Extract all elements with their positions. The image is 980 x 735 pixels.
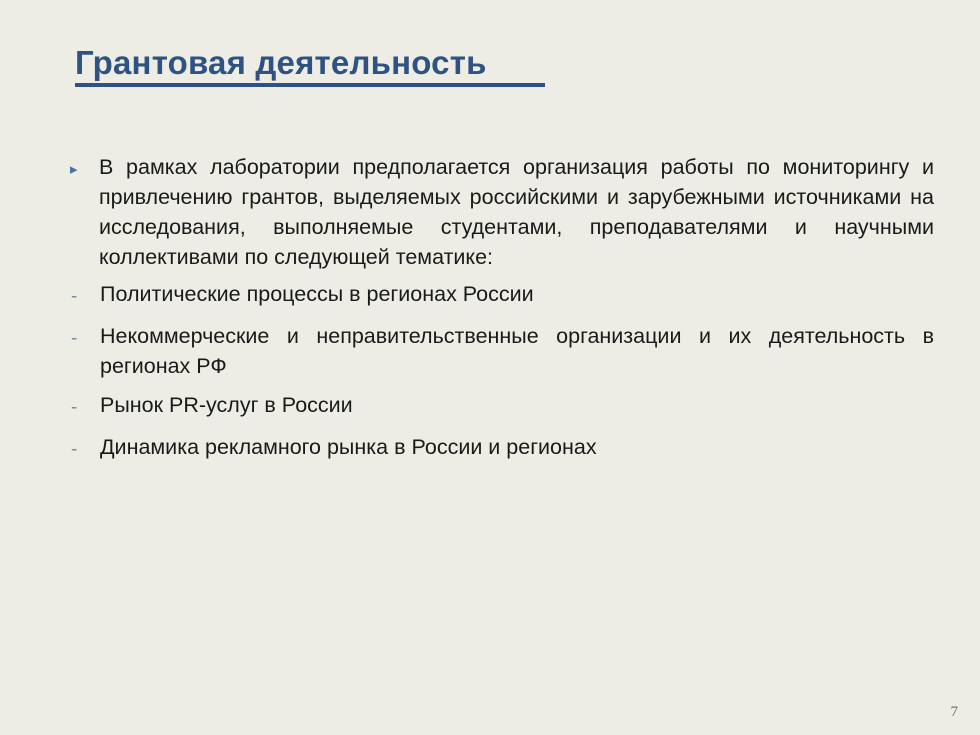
dash-bullet-icon: - — [68, 390, 100, 423]
triangle-bullet-icon: ▸ — [68, 152, 99, 185]
list-item-label: Динамика рекламного рынка в России и рег… — [100, 432, 934, 462]
list-item-label: В рамках лаборатории предполагается орга… — [99, 152, 934, 272]
list-item: - Некоммерческие и неправительственные о… — [68, 321, 934, 381]
list-item: - Политические процессы в регионах Росси… — [68, 279, 934, 312]
list-item-label: Некоммерческие и неправительственные орг… — [100, 321, 934, 381]
list-item-label: Политические процессы в регионах России — [100, 279, 934, 309]
list-item-label: Рынок PR-услуг в России — [100, 390, 934, 420]
list-item: - Рынок PR-услуг в России — [68, 390, 934, 423]
dash-bullet-icon: - — [68, 432, 100, 465]
dash-bullet-icon: - — [68, 279, 100, 312]
dash-bullet-icon: - — [68, 321, 100, 354]
page-title: Грантовая деятельность — [75, 43, 487, 83]
list-item: - Динамика рекламного рынка в России и р… — [68, 432, 934, 465]
list-item: ▸ В рамках лаборатории предполагается ор… — [68, 152, 934, 272]
bullet-list: ▸ В рамках лаборатории предполагается ор… — [68, 152, 934, 474]
page-number: 7 — [951, 704, 959, 721]
slide: Грантовая деятельность ▸ В рамках лабора… — [0, 0, 980, 735]
title-underline — [75, 83, 545, 87]
